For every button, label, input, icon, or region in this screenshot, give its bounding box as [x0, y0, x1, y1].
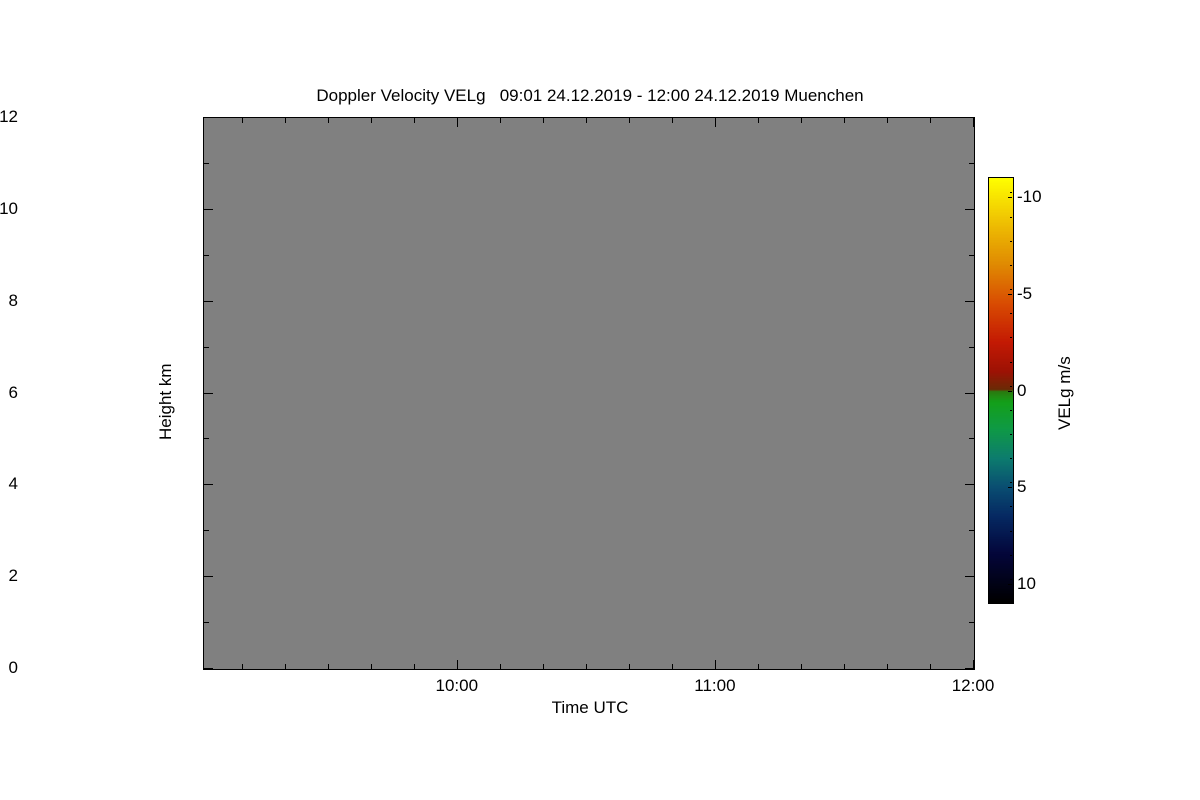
colorbar-minor-tick — [1010, 434, 1012, 435]
x-minor-tick — [930, 664, 931, 669]
y-minor-tick — [204, 438, 209, 439]
x-minor-tick-top — [242, 118, 243, 123]
colorbar-minor-tick — [1010, 458, 1012, 459]
colorbar-tick-label: -10 — [1017, 187, 1042, 207]
x-minor-tick-top — [844, 118, 845, 123]
x-tick-label: 12:00 — [952, 676, 995, 696]
x-minor-tick-top — [629, 118, 630, 123]
x-tick-mark-top — [715, 118, 716, 127]
colorbar-tick-mark — [1008, 391, 1012, 392]
y-tick-mark — [204, 209, 213, 210]
y-tick-label: 2 — [0, 566, 18, 586]
y-tick-mark-right — [965, 209, 974, 210]
x-tick-mark — [973, 660, 974, 669]
y-tick-label: 8 — [0, 291, 18, 311]
y-minor-tick — [204, 163, 209, 164]
x-minor-tick — [328, 664, 329, 669]
y-tick-mark-right — [965, 301, 974, 302]
colorbar-minor-tick — [1010, 506, 1012, 507]
x-minor-tick-top — [586, 118, 587, 123]
x-axis-label: Time UTC — [0, 698, 1180, 718]
y-tick-mark-right — [965, 576, 974, 577]
colorbar-minor-tick — [1010, 192, 1012, 193]
y-minor-tick-right — [969, 530, 974, 531]
x-minor-tick — [543, 664, 544, 669]
colorbar-minor-tick — [1010, 555, 1012, 556]
colorbar-minor-tick — [1010, 410, 1012, 411]
y-tick-mark — [204, 301, 213, 302]
x-minor-tick-top — [371, 118, 372, 123]
colorbar-minor-tick — [1010, 362, 1012, 363]
y-axis-label: Height km — [156, 363, 176, 440]
y-tick-label: 0 — [0, 658, 18, 678]
x-minor-tick — [629, 664, 630, 669]
colorbar-tick-mark — [1008, 294, 1012, 295]
x-minor-tick-top — [672, 118, 673, 123]
x-minor-tick-top — [500, 118, 501, 123]
x-tick-mark-top — [457, 118, 458, 127]
colorbar-tick-mark — [1008, 197, 1012, 198]
colorbar-tick-label: 0 — [1017, 381, 1026, 401]
colorbar-minor-tick — [1010, 313, 1012, 314]
y-minor-tick-right — [969, 622, 974, 623]
y-minor-tick-right — [969, 163, 974, 164]
y-tick-label: 10 — [0, 199, 18, 219]
x-tick-label: 11:00 — [694, 676, 735, 696]
x-minor-tick-top — [414, 118, 415, 123]
y-tick-mark — [204, 393, 213, 394]
colorbar-minor-tick — [1010, 603, 1012, 604]
x-minor-tick — [672, 664, 673, 669]
x-minor-tick-top — [887, 118, 888, 123]
x-minor-tick — [844, 664, 845, 669]
colorbar-tick-label: 10 — [1017, 574, 1036, 594]
x-minor-tick — [242, 664, 243, 669]
colorbar-tick-label: 5 — [1017, 477, 1026, 497]
x-minor-tick-top — [285, 118, 286, 123]
radar-heatmap-canvas — [204, 118, 974, 669]
x-minor-tick — [414, 664, 415, 669]
radar-plot-area — [203, 117, 975, 670]
x-minor-tick-top — [930, 118, 931, 123]
colorbar-minor-tick — [1010, 241, 1012, 242]
x-minor-tick — [801, 664, 802, 669]
y-tick-mark — [204, 668, 213, 669]
x-minor-tick — [586, 664, 587, 669]
colorbar-tick-label: -5 — [1017, 284, 1032, 304]
x-minor-tick — [285, 664, 286, 669]
colorbar-minor-tick — [1010, 386, 1012, 387]
x-minor-tick — [758, 664, 759, 669]
y-minor-tick — [204, 622, 209, 623]
y-minor-tick-right — [969, 347, 974, 348]
y-minor-tick — [204, 347, 209, 348]
colorbar-minor-tick — [1010, 265, 1012, 266]
y-tick-mark-right — [965, 393, 974, 394]
colorbar-minor-tick — [1010, 579, 1012, 580]
y-tick-label: 12 — [0, 107, 18, 127]
x-minor-tick-top — [543, 118, 544, 123]
x-minor-tick-top — [758, 118, 759, 123]
x-minor-tick — [887, 664, 888, 669]
plot-title: Doppler Velocity VELg 09:01 24.12.2019 -… — [0, 86, 1180, 106]
colorbar-tick-mark — [1008, 487, 1012, 488]
y-tick-label: 6 — [0, 383, 18, 403]
radar-data-canvas-wrap — [204, 118, 974, 669]
colorbar-minor-tick — [1010, 531, 1012, 532]
colorbar-minor-tick — [1010, 337, 1012, 338]
colorbar-minor-tick — [1010, 482, 1012, 483]
y-tick-mark — [204, 484, 213, 485]
x-minor-tick — [371, 664, 372, 669]
x-tick-mark — [715, 660, 716, 669]
colorbar-label: VELg m/s — [1055, 356, 1075, 430]
y-tick-label: 4 — [0, 474, 18, 494]
colorbar-minor-tick — [1010, 217, 1012, 218]
y-tick-mark — [204, 117, 213, 118]
y-tick-mark — [204, 576, 213, 577]
y-minor-tick — [204, 255, 209, 256]
colorbar-tick-mark — [1008, 584, 1012, 585]
y-minor-tick-right — [969, 255, 974, 256]
colorbar-minor-tick — [1010, 289, 1012, 290]
y-tick-mark-right — [965, 484, 974, 485]
x-minor-tick-top — [328, 118, 329, 123]
x-minor-tick-top — [801, 118, 802, 123]
x-tick-label: 10:00 — [436, 676, 479, 696]
x-tick-mark-top — [973, 118, 974, 127]
y-minor-tick-right — [969, 438, 974, 439]
x-tick-mark — [457, 660, 458, 669]
x-minor-tick — [500, 664, 501, 669]
y-minor-tick — [204, 530, 209, 531]
